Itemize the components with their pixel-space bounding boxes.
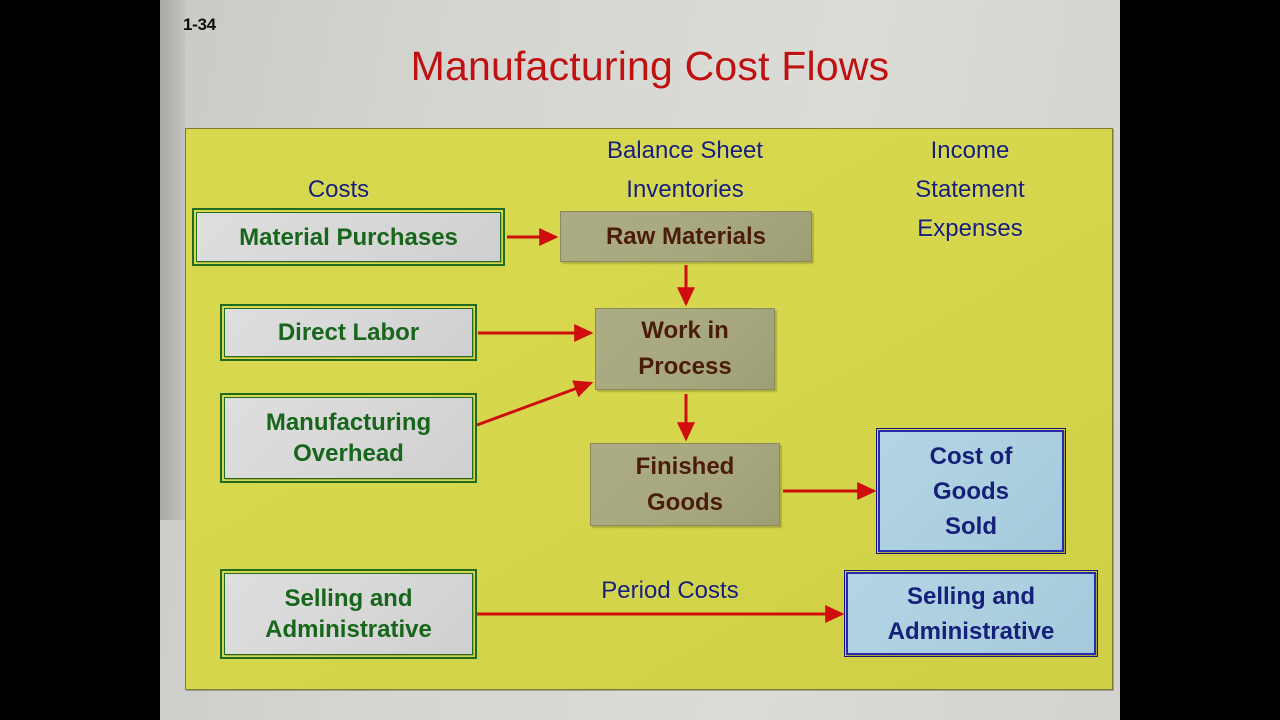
column-heading-balance-sheet-inventories: Balance Sheet Inventories [540,131,830,209]
box-material-purchases[interactable]: Material Purchases [196,212,501,262]
box-cost-of-goods-sold[interactable]: Cost of Goods Sold [878,430,1064,552]
box-work-in-process[interactable]: Work in Process [595,308,775,390]
box-finished-goods[interactable]: Finished Goods [590,443,780,526]
column-heading-costs: Costs [196,170,481,209]
page-number: 1-34 [183,15,216,35]
slide-left-gutter [160,0,185,520]
box-manufacturing-overhead[interactable]: Manufacturing Overhead [224,397,473,479]
box-raw-materials[interactable]: Raw Materials [560,211,812,262]
box-selling-and-administrative-cost[interactable]: Selling and Administrative [224,573,473,655]
box-selling-and-administrative-expense[interactable]: Selling and Administrative [846,572,1096,655]
label-period-costs: Period Costs [510,577,830,605]
screen: 1-34 Manufacturing Cost Flows Costs Bala… [0,0,1280,720]
column-heading-income-statement-expenses: Income Statement Expenses [855,131,1085,248]
box-direct-labor[interactable]: Direct Labor [224,308,473,357]
page-title: Manufacturing Cost Flows [185,43,1115,90]
